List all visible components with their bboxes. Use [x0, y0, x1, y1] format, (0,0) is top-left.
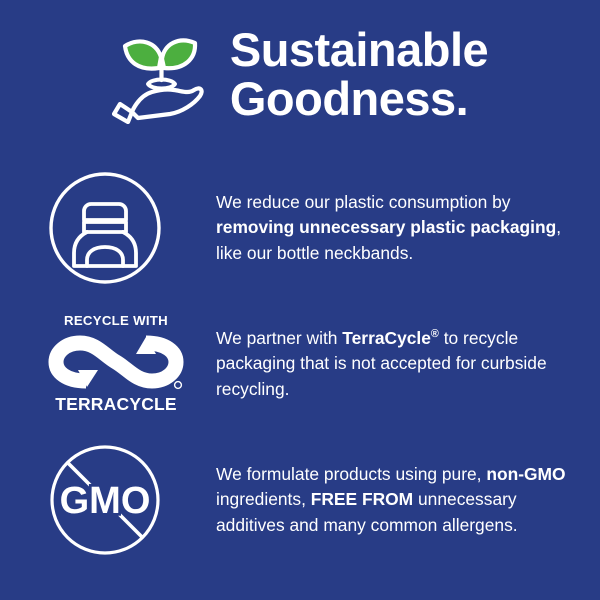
feature-text-plastic-packaging: We reduce our plastic consumption by rem… [216, 190, 600, 266]
terracycle-bottom-label: TERRACYCLE [46, 394, 186, 415]
sustainable-goodness-infographic: Sustainable Goodness. [0, 0, 600, 600]
text-segment: ingredients, [216, 489, 311, 509]
feature-icon-wrapper: GMO [46, 441, 196, 559]
plastic-bottle-circle-icon [46, 169, 164, 287]
text-segment: We formulate products using pure, [216, 464, 486, 484]
feature-list: We reduce our plastic consumption by rem… [0, 160, 600, 568]
gmo-label: GMO [60, 480, 151, 522]
feature-text-terracycle: We partner with TerraCycle® to recycle p… [216, 326, 600, 402]
brand-name: TerraCycle [342, 328, 431, 348]
feature-icon-wrapper: RECYCLE WITH TERRACYCLE [46, 313, 196, 415]
hand-holding-sprout-icon [112, 24, 216, 124]
feature-row-non-gmo: GMO We formulate products using pure, no… [0, 432, 600, 568]
text-segment: We reduce our plastic consumption by [216, 192, 511, 212]
feature-text-non-gmo: We formulate products using pure, non-GM… [216, 462, 600, 538]
no-gmo-circle-icon: GMO [46, 441, 164, 559]
text-segment: We partner with [216, 328, 342, 348]
feature-row-terracycle: RECYCLE WITH TERRACYCLE We partne [0, 296, 600, 432]
feature-row-plastic-packaging: We reduce our plastic consumption by rem… [0, 160, 600, 296]
text-segment-bold: FREE FROM [311, 489, 413, 509]
feature-icon-wrapper [46, 169, 196, 287]
infinity-recycle-loop-icon [46, 331, 186, 393]
title-line-2: Goodness. [230, 74, 488, 123]
registered-trademark-symbol: ® [431, 328, 439, 340]
terracycle-top-label: RECYCLE WITH [46, 313, 186, 328]
text-segment-bold: TerraCycle® [342, 328, 439, 348]
text-segment-bold: non-GMO [486, 464, 565, 484]
header: Sustainable Goodness. [0, 24, 600, 124]
terracycle-logo-icon: RECYCLE WITH TERRACYCLE [46, 313, 186, 415]
text-segment-bold: removing unnecessary plastic packaging [216, 217, 556, 237]
page-title: Sustainable Goodness. [230, 25, 488, 123]
title-line-1: Sustainable [230, 25, 488, 74]
